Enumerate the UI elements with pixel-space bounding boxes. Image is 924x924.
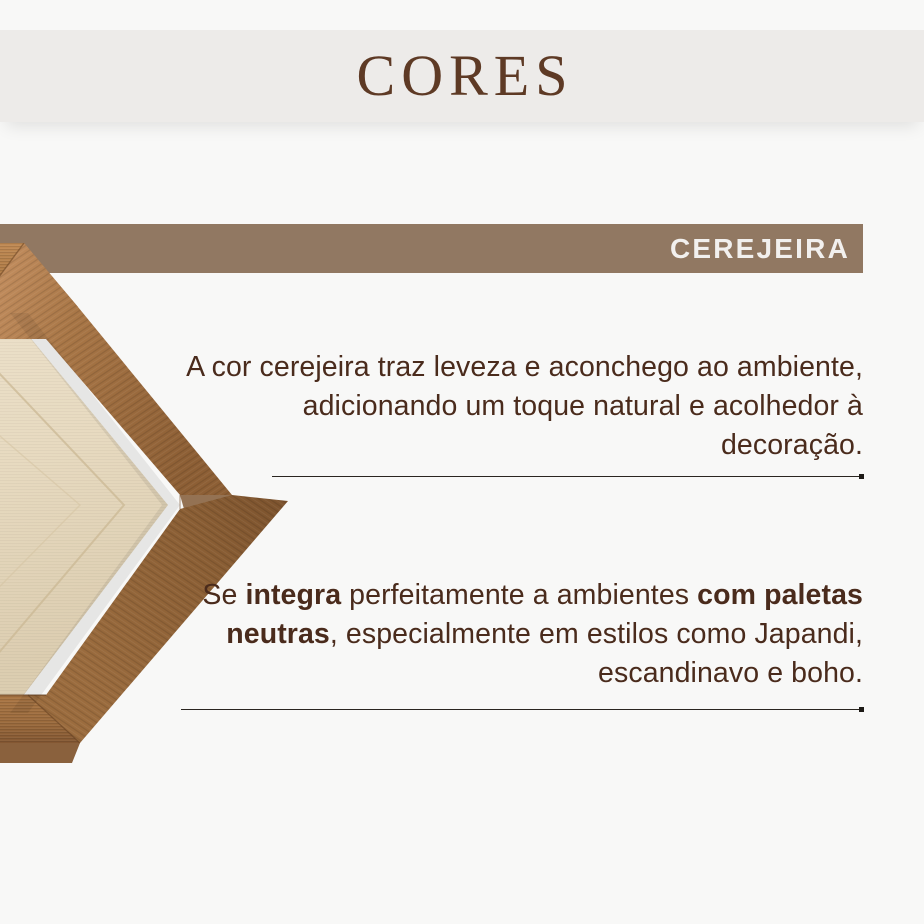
section-banner-label: CEREJEIRA (670, 233, 863, 265)
paragraph-2: Se integra perfeitamente a ambientes com… (180, 576, 863, 693)
divider-rule-1 (272, 476, 863, 477)
paragraph-2-tail: , especialmente em estilos como Japandi,… (330, 618, 863, 689)
paragraph-1: A cor cerejeira traz leveza e aconchego … (180, 348, 863, 465)
paragraph-2-lead: Se (202, 579, 245, 611)
slide-canvas: CORES CEREJEIRA (0, 0, 924, 924)
paragraph-2-bold-1: integra (245, 579, 341, 611)
page-title: CORES (351, 47, 574, 105)
copy-block-2: Se integra perfeitamente a ambientes com… (180, 576, 863, 693)
header-band: CORES (0, 30, 924, 122)
wood-frame-artwork (0, 243, 288, 783)
wood-frame-illustration (0, 243, 288, 783)
divider-rule-2 (181, 709, 863, 710)
paragraph-2-middle: perfeitamente a ambientes (341, 579, 697, 611)
copy-block-1: A cor cerejeira traz leveza e aconchego … (180, 348, 863, 465)
